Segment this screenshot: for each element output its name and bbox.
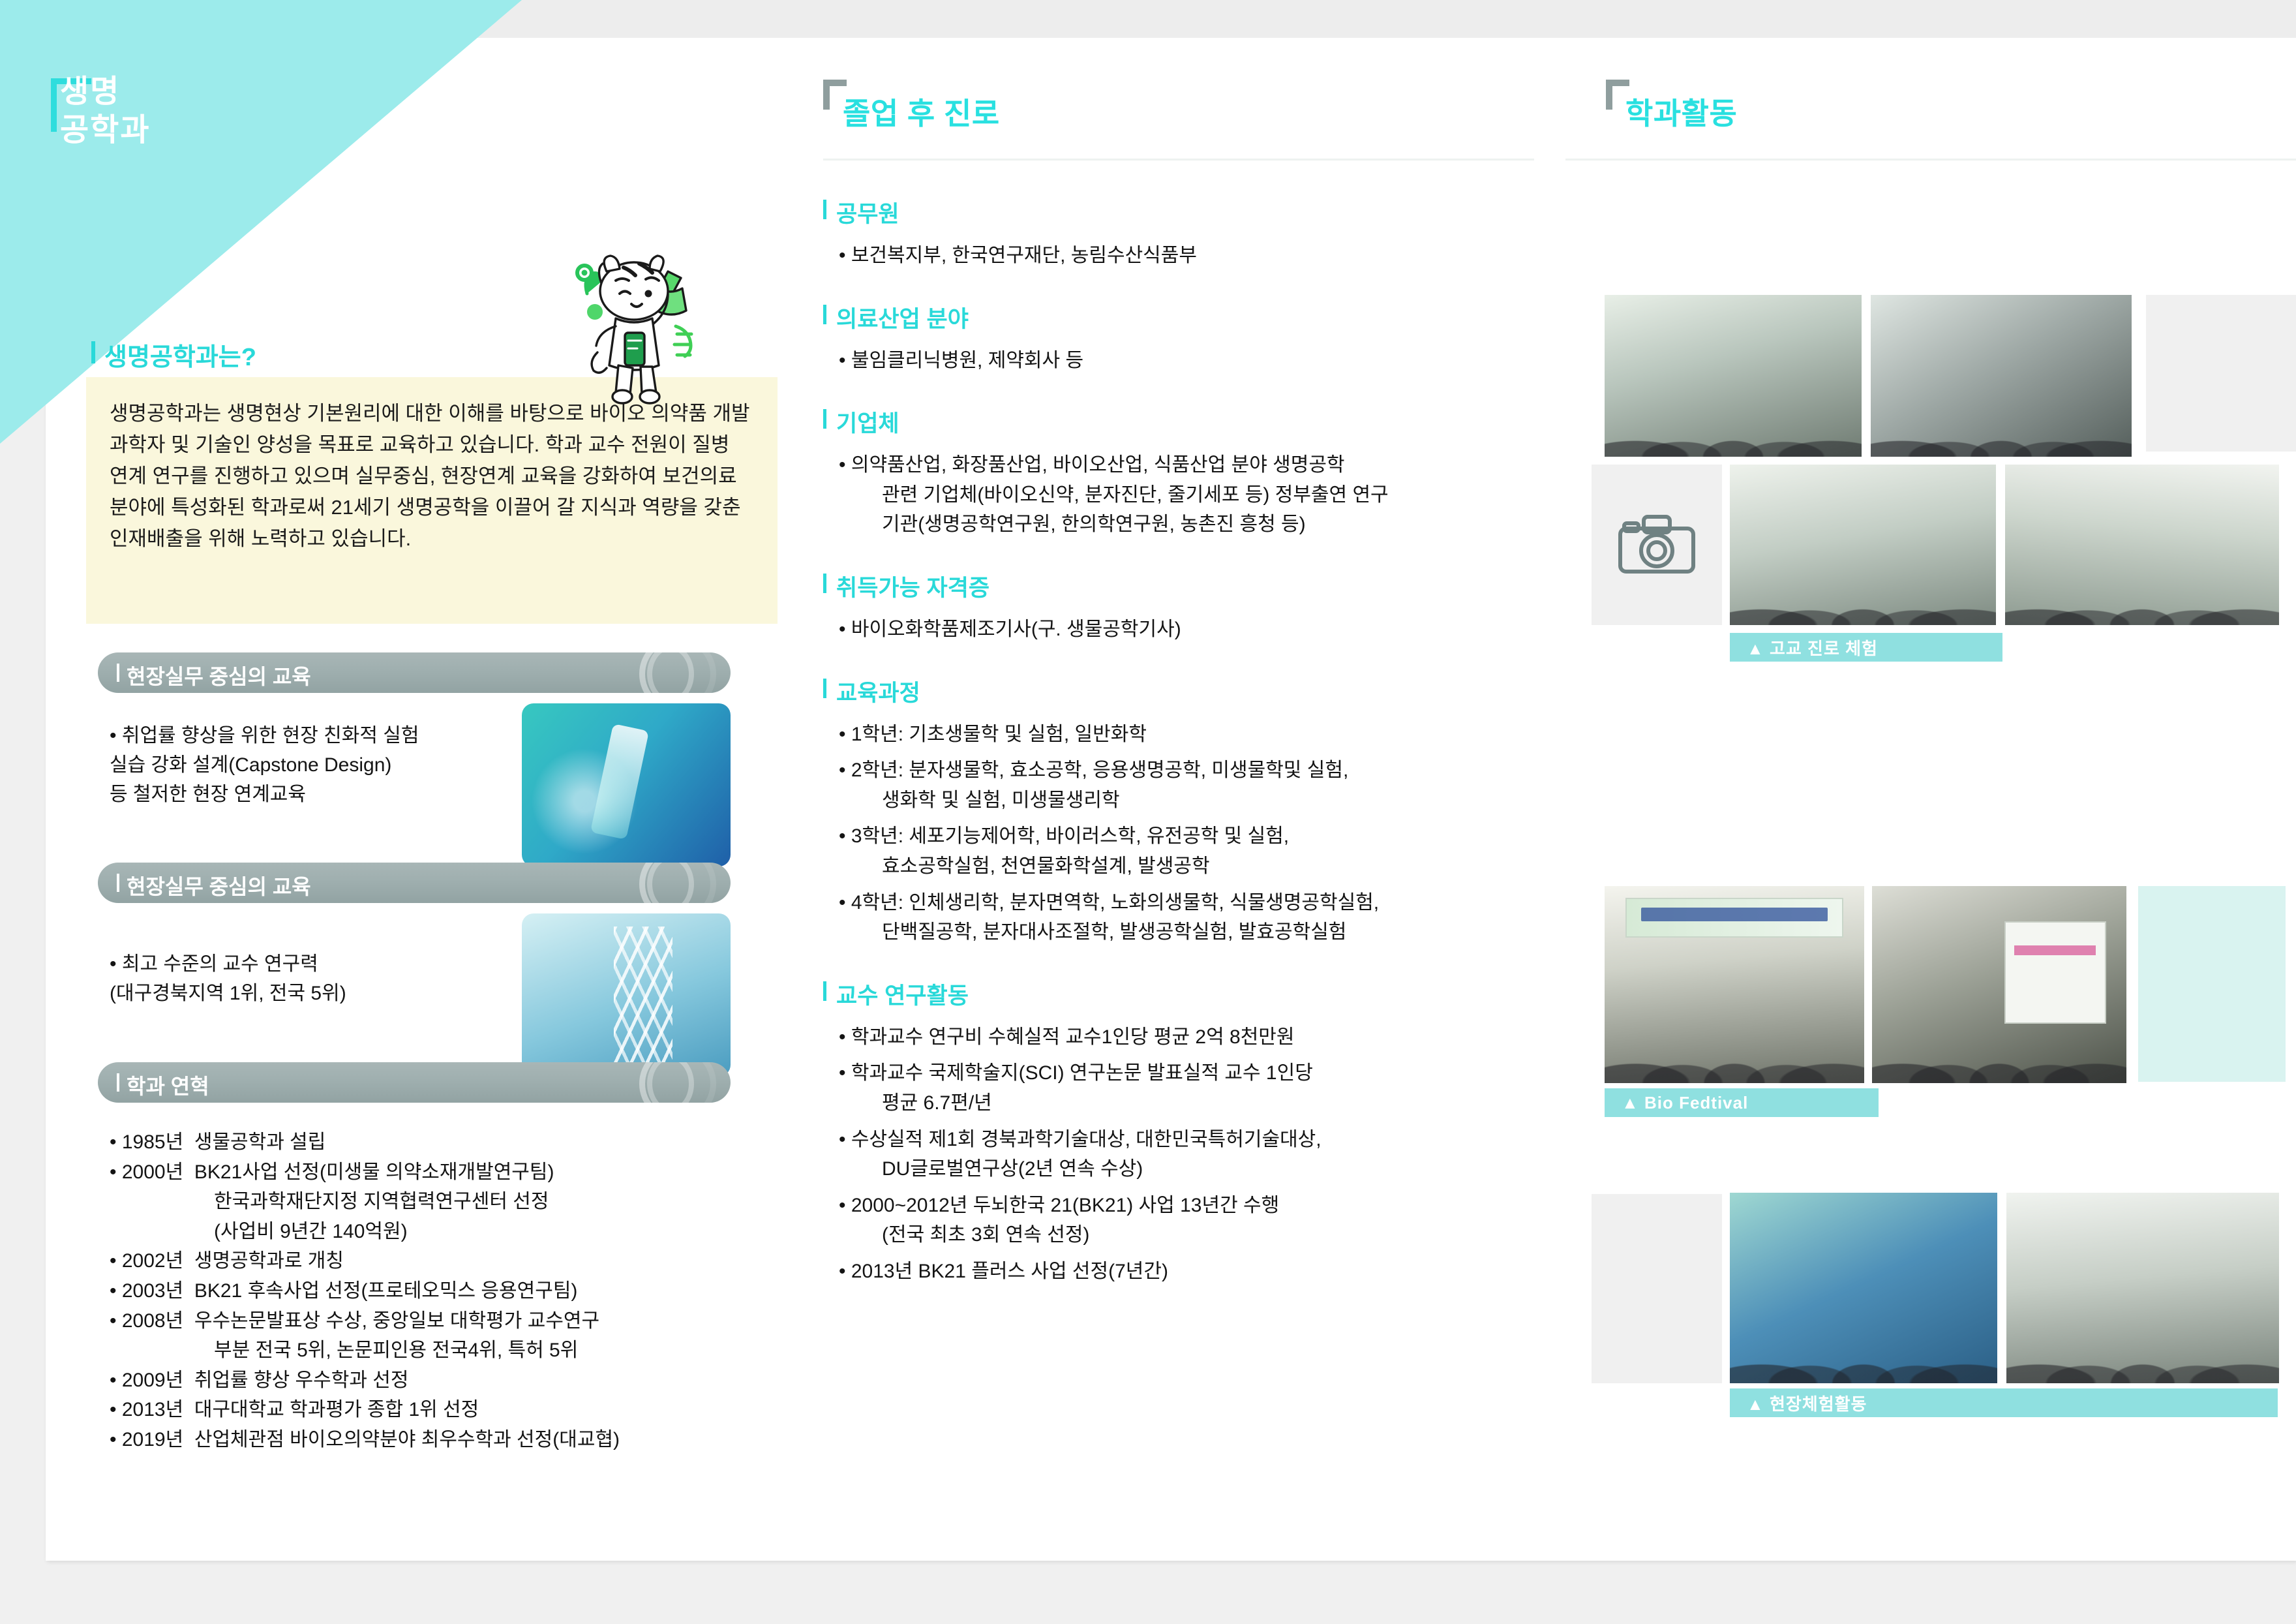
feature-header-bar-2: 현장실무 중심의 교육 bbox=[98, 863, 731, 903]
history-header-label: 학과 연혁 bbox=[127, 1070, 209, 1100]
photo-placeholder-block bbox=[2146, 295, 2296, 452]
career-block: 의료산업 분야불임클리닉병원, 제약회사 등 bbox=[823, 301, 1528, 376]
career-item: 학과교수 국제학술지(SCI) 연구논문 발표실적 교수 1인당평균 6.7편/… bbox=[823, 1058, 1528, 1118]
activity-caption-3: ▲ 현장체험활동 bbox=[1730, 1388, 2278, 1417]
career-item: 4학년: 인체생리학, 분자면역학, 노화의생물학, 식물생명공학실험,단백질공… bbox=[823, 888, 1528, 947]
photo-placeholder-block bbox=[1592, 1194, 1722, 1383]
career-item-list: 1학년: 기초생물학 및 실험, 일반화학2학년: 분자생물학, 효소공학, 응… bbox=[823, 720, 1528, 947]
career-block-heading: 교육과정 bbox=[823, 675, 1528, 708]
activities-header-rule bbox=[1565, 159, 2296, 161]
career-item: 학과교수 연구비 수혜실적 교수1인당 평균 2억 8천만원 bbox=[823, 1022, 1528, 1052]
career-item: 의약품산업, 화장품산업, 바이오산업, 식품산업 분야 생명공학관련 기업체(… bbox=[823, 450, 1528, 540]
career-item: 바이오화학품제조기사(구. 생물공학기사) bbox=[823, 615, 1528, 645]
circle-decoration-inner-icon bbox=[647, 652, 694, 693]
career-item-list: 학과교수 연구비 수혜실적 교수1인당 평균 2억 8천만원학과교수 국제학술지… bbox=[823, 1022, 1528, 1287]
history-row-continuation: 부분 전국 5위, 논문피인용 전국4위, 특허 5위 bbox=[110, 1336, 762, 1366]
lab-hand-test-tube-photo bbox=[522, 703, 731, 866]
feature-line: • 취업률 향상을 위한 현장 친화적 실험 bbox=[110, 721, 566, 750]
lab-equipment-tour-photo bbox=[1871, 295, 2132, 457]
history-row: • 2008년 우수논문발표상 수상, 중앙일보 대학평가 교수연구 bbox=[110, 1306, 762, 1336]
feature-header-label-2: 현장실무 중심의 교육 bbox=[127, 870, 311, 900]
department-title: 생명 공학과 bbox=[60, 73, 150, 149]
career-item: 2학년: 분자생물학, 효소공학, 응용생명공학, 미생물학및 실험,생화학 및… bbox=[823, 756, 1528, 815]
career-block: 취득가능 자격증바이오화학품제조기사(구. 생물공학기사) bbox=[823, 570, 1528, 645]
career-block-heading: 취득가능 자격증 bbox=[823, 570, 1528, 603]
career-section-title: 졸업 후 진로 bbox=[843, 90, 1000, 133]
tiger-mascot-illustration bbox=[561, 228, 724, 418]
history-row: • 2009년 취업률 향상 우수학과 선정 bbox=[110, 1366, 762, 1396]
career-item-continuation: 평균 6.7편/년 bbox=[854, 1088, 1528, 1118]
career-item: 불임클리닉병원, 제약회사 등 bbox=[823, 346, 1528, 376]
career-item-list: 불임클리닉병원, 제약회사 등 bbox=[823, 346, 1528, 376]
feature-line: • 최고 수준의 교수 연구력 bbox=[110, 949, 566, 979]
feature-header-bar-1: 현장실무 중심의 교육 bbox=[98, 652, 731, 693]
activity-caption-1: ▲ 고교 진로 체험 bbox=[1730, 633, 2002, 662]
field-trip-building-group-photo bbox=[1730, 1193, 1997, 1383]
department-title-line1: 생명 bbox=[60, 73, 150, 112]
career-item: 3학년: 세포기능제어학, 바이러스학, 유전공학 및 실험,효소공학실험, 천… bbox=[823, 821, 1528, 881]
career-block-heading: 의료산업 분야 bbox=[823, 301, 1528, 334]
dna-helix-photo bbox=[522, 913, 731, 1077]
history-row-continuation: 한국과학재단지정 지역협력연구센터 선정 bbox=[110, 1187, 762, 1217]
department-title-line2: 공학과 bbox=[60, 112, 150, 150]
career-item: 2013년 BK21 플러스 사업 선정(7년간) bbox=[823, 1257, 1528, 1287]
history-row: • 2013년 대구대학교 학과평가 종합 1위 선정 bbox=[110, 1395, 762, 1425]
lab-instrument-demo-photo bbox=[1730, 465, 1996, 625]
feature-header-label-1: 현장실무 중심의 교육 bbox=[127, 660, 311, 690]
career-item: 수상실적 제1회 경북과학기술대상, 대한민국특허기술대상,DU글로벌연구상(2… bbox=[823, 1125, 1528, 1184]
lab-corridor-students-photo bbox=[1605, 295, 1862, 457]
career-item-continuation: 단백질공학, 분자대사조절학, 발생공학실험, 발효공학실험 bbox=[854, 917, 1528, 947]
history-header-bar: 학과 연혁 bbox=[98, 1062, 731, 1103]
career-item-continuation: 기관(생명공학연구원, 한의학연구원, 농촌진 흥청 등) bbox=[854, 510, 1528, 540]
history-row-continuation: (사업비 9년간 140억원) bbox=[110, 1217, 762, 1247]
intro-heading: 생명공학과는? bbox=[104, 337, 256, 373]
career-item: 보건복지부, 한국연구재단, 농림수산식품부 bbox=[823, 241, 1528, 271]
feature-body-2: • 최고 수준의 교수 연구력 (대구경북지역 1위, 전국 5위) bbox=[110, 949, 566, 1008]
lecture-hall-class-photo bbox=[2005, 465, 2279, 625]
career-block: 교육과정1학년: 기초생물학 및 실험, 일반화학2학년: 분자생물학, 효소공… bbox=[823, 675, 1528, 947]
activity-caption-2: ▲ Bio Fedtival bbox=[1605, 1088, 1879, 1117]
bio-festival-banner-group-photo bbox=[1605, 886, 1864, 1083]
career-item-continuation: 관련 기업체(바이오신약, 분자진단, 줄기세포 등) 정부출연 연구 bbox=[854, 480, 1528, 510]
career-block: 공무원보건복지부, 한국연구재단, 농림수산식품부 bbox=[823, 196, 1528, 271]
career-item: 2000~2012년 두뇌한국 21(BK21) 사업 13년간 수행(전국 최… bbox=[823, 1191, 1528, 1250]
career-block: 교수 연구활동학과교수 연구비 수혜실적 교수1인당 평균 2억 8천만원학과교… bbox=[823, 977, 1528, 1287]
mint-placeholder-block bbox=[2138, 886, 2286, 1082]
camera-placeholder-block bbox=[1592, 465, 1722, 625]
history-row: • 1985년 생물공학과 설립 bbox=[110, 1127, 762, 1157]
career-item-list: 의약품산업, 화장품산업, 바이오산업, 식품산업 분야 생명공학관련 기업체(… bbox=[823, 450, 1528, 540]
camera-icon bbox=[1618, 513, 1696, 575]
feature-line: (대구경북지역 1위, 전국 5위) bbox=[110, 979, 566, 1008]
career-block-heading: 교수 연구활동 bbox=[823, 977, 1528, 1011]
career-block: 기업체의약품산업, 화장품산업, 바이오산업, 식품산업 분야 생명공학관련 기… bbox=[823, 405, 1528, 540]
feature-line: 등 철저한 현장 연계교육 bbox=[110, 780, 566, 809]
career-header-rule bbox=[823, 159, 1534, 161]
poster-session-hallway-photo bbox=[1872, 886, 2126, 1083]
intro-body-text: 생명공학과는 생명현상 기본원리에 대한 이해를 바탕으로 바이오 의약품 개발… bbox=[110, 398, 753, 555]
circle-decoration-inner-icon bbox=[647, 1062, 694, 1103]
career-item: 1학년: 기초생물학 및 실험, 일반화학 bbox=[823, 720, 1528, 750]
history-list: • 1985년 생물공학과 설립• 2000년 BK21사업 선정(미생물 의약… bbox=[110, 1127, 762, 1455]
career-content: 공무원보건복지부, 한국연구재단, 농림수산식품부의료산업 분야불임클리닉병원,… bbox=[823, 196, 1528, 1316]
feature-body-1: • 취업률 향상을 위한 현장 친화적 실험 실습 강화 설계(Capstone… bbox=[110, 721, 566, 809]
history-row: • 2003년 BK21 후속사업 선정(프로테오믹스 응용연구팀) bbox=[110, 1276, 762, 1306]
career-item-continuation: 생화학 및 실험, 미생물생리학 bbox=[854, 786, 1528, 816]
feature-line: 실습 강화 설계(Capstone Design) bbox=[110, 750, 566, 780]
brochure-page: 생명 공학과 bbox=[0, 0, 2296, 1624]
career-block-heading: 기업체 bbox=[823, 405, 1528, 438]
career-item-list: 보건복지부, 한국연구재단, 농림수산식품부 bbox=[823, 241, 1528, 271]
career-item-list: 바이오화학품제조기사(구. 생물공학기사) bbox=[823, 615, 1528, 645]
history-row: • 2000년 BK21사업 선정(미생물 의약소재개발연구팀) bbox=[110, 1157, 762, 1187]
circle-decoration-inner-icon bbox=[647, 863, 694, 903]
career-block-heading: 공무원 bbox=[823, 196, 1528, 229]
career-item-continuation: DU글로벌연구상(2년 연속 수상) bbox=[854, 1154, 1528, 1184]
history-row: • 2002년 생명공학과로 개칭 bbox=[110, 1246, 762, 1276]
career-item-continuation: 효소공학실험, 천연물화학설계, 발생공학 bbox=[854, 851, 1528, 881]
activities-section-title: 학과활동 bbox=[1625, 90, 1737, 133]
company-briefing-room-photo bbox=[2006, 1193, 2279, 1383]
history-row: • 2019년 산업체관점 바이오의약분야 최우수학과 선정(대교협) bbox=[110, 1425, 762, 1455]
career-item-continuation: (전국 최초 3회 연속 선정) bbox=[854, 1220, 1528, 1250]
